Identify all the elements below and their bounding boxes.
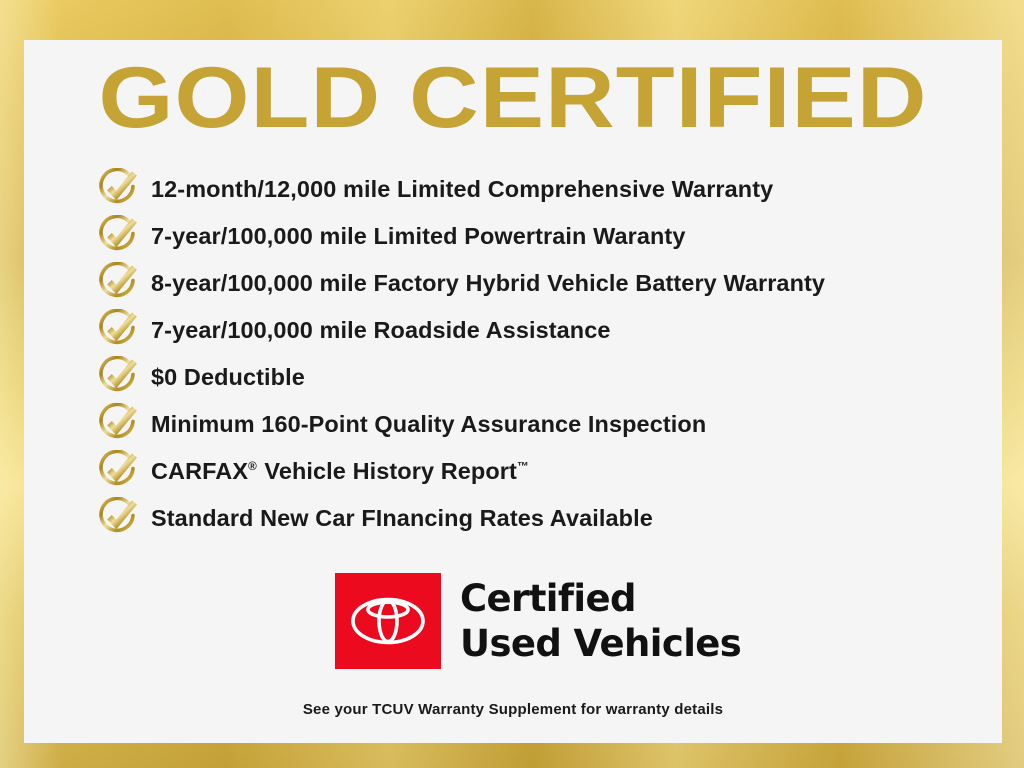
benefit-label-carfax: CARFAX® Vehicle History Report™ — [151, 458, 530, 484]
benefit-label: 7-year/100,000 mile Limited Powertrain W… — [151, 223, 686, 249]
gold-certified-badge: GOLD CERTIFIED 12-month/12,000 mile Li — [0, 0, 1024, 768]
trademark-mark: ™ — [517, 461, 530, 473]
gold-check-circle-icon — [97, 309, 141, 351]
gold-check-circle-icon — [97, 215, 141, 257]
gold-check-circle-icon — [97, 450, 141, 492]
gold-check-circle-icon — [97, 403, 141, 445]
benefit-label: Standard New Car FInancing Rates Availab… — [151, 505, 653, 531]
list-item: 8-year/100,000 mile Factory Hybrid Vehic… — [97, 259, 997, 306]
benefit-label: $0 Deductible — [151, 364, 305, 390]
lockup-line-1: Certified — [460, 576, 741, 621]
benefits-list: 12-month/12,000 mile Limited Comprehensi… — [97, 165, 997, 541]
lockup-wordmark: Certified Used Vehicles — [460, 576, 741, 666]
benefit-label: 7-year/100,000 mile Roadside Assistance — [151, 317, 611, 343]
lockup-line-2: Used Vehicles — [460, 621, 741, 666]
list-item: 7-year/100,000 mile Limited Powertrain W… — [97, 212, 997, 259]
gold-check-circle-icon — [97, 168, 141, 210]
registered-mark: ® — [248, 461, 258, 473]
carfax-wordmark: CARFAX — [151, 458, 248, 484]
list-item: 7-year/100,000 mile Roadside Assistance — [97, 306, 997, 353]
gold-check-circle-icon — [97, 497, 141, 539]
toyota-certified-used-vehicles-logo: Certified Used Vehicles — [335, 573, 741, 669]
benefit-label: Minimum 160-Point Quality Assurance Insp… — [151, 411, 706, 437]
gold-check-circle-icon — [97, 356, 141, 398]
list-item: $0 Deductible — [97, 353, 997, 400]
toyota-logo-tile — [335, 573, 441, 669]
toyota-ellipses-icon — [350, 595, 426, 647]
certificate-panel: GOLD CERTIFIED 12-month/12,000 mile Li — [24, 40, 1002, 743]
carfax-report-label: Vehicle History Report — [258, 458, 517, 484]
list-item: Minimum 160-Point Quality Assurance Insp… — [97, 400, 997, 447]
list-item: Standard New Car FInancing Rates Availab… — [97, 494, 997, 541]
benefit-label: 12-month/12,000 mile Limited Comprehensi… — [151, 176, 773, 202]
benefit-label: 8-year/100,000 mile Factory Hybrid Vehic… — [151, 270, 825, 296]
page-title: GOLD CERTIFIED — [0, 52, 1024, 144]
warranty-disclaimer: See your TCUV Warranty Supplement for wa… — [24, 700, 1002, 720]
list-item: 12-month/12,000 mile Limited Comprehensi… — [97, 165, 997, 212]
list-item: CARFAX® Vehicle History Report™ — [97, 447, 997, 494]
gold-check-circle-icon — [97, 262, 141, 304]
